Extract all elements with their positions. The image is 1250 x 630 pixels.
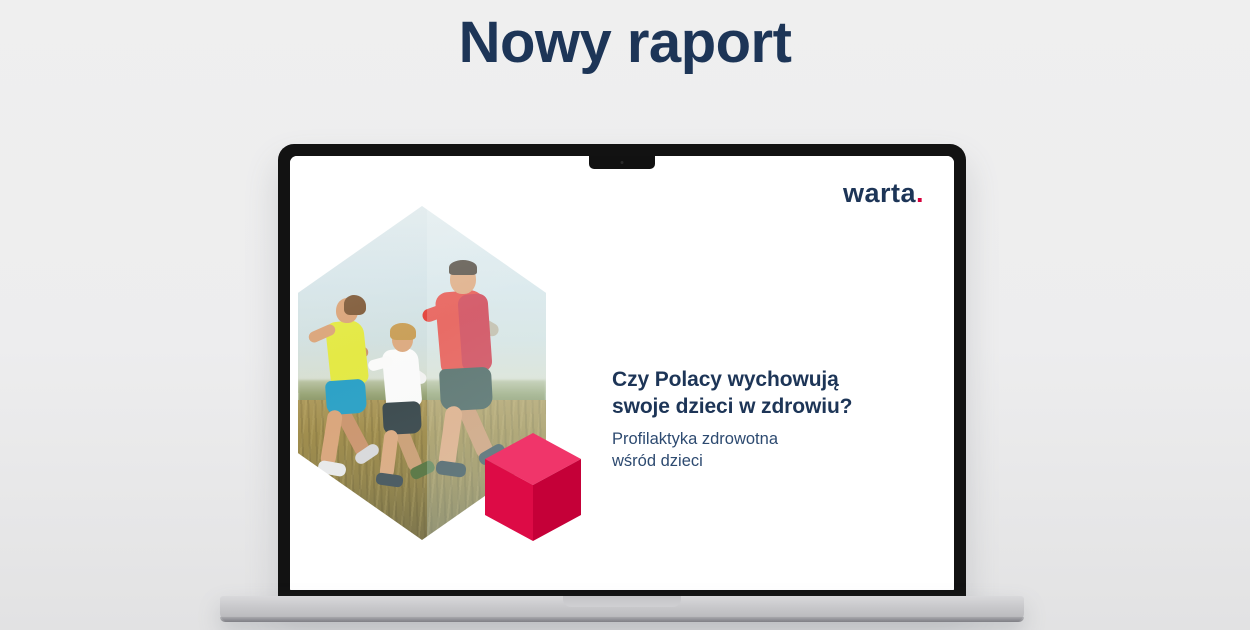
slide-title-line2: swoje dzieci w zdrowiu? <box>612 393 912 420</box>
warta-logo: warta. <box>843 180 924 207</box>
camera-icon <box>621 161 624 164</box>
slide-subtitle-line1: Profilaktyka zdrowotna <box>612 428 912 450</box>
page-title: Nowy raport <box>0 14 1250 72</box>
laptop-mockup: warta. Czy Polacy wychowują swoje dzieci… <box>278 144 966 604</box>
hair <box>344 295 366 315</box>
slide-text-block: Czy Polacy wychowują swoje dzieci w zdro… <box>612 366 912 472</box>
red-cube-accent <box>485 433 581 541</box>
hair <box>390 323 416 340</box>
presentation-slide: warta. Czy Polacy wychowują swoje dzieci… <box>290 156 954 590</box>
leg-front <box>379 429 399 478</box>
laptop-base-notch <box>563 596 681 607</box>
laptop-lid: warta. Czy Polacy wychowują swoje dzieci… <box>278 144 966 602</box>
slide-title-line1: Czy Polacy wychowują <box>612 366 912 393</box>
slide-subtitle-line2: wśród dzieci <box>612 450 912 472</box>
shoe-front <box>317 460 347 478</box>
slide-title: Czy Polacy wychowują swoje dzieci w zdro… <box>612 366 912 421</box>
laptop-base <box>220 596 1024 622</box>
leg-front <box>320 409 344 467</box>
warta-dot-icon: . <box>916 178 924 208</box>
shoe-front <box>375 472 403 488</box>
slide-subtitle: Profilaktyka zdrowotna wśród dzieci <box>612 428 912 472</box>
warta-wordmark: warta <box>843 178 916 208</box>
laptop-screen: warta. Czy Polacy wychowują swoje dzieci… <box>290 156 954 590</box>
laptop-camera-notch <box>589 156 655 169</box>
laptop-base-edge <box>220 617 1024 622</box>
